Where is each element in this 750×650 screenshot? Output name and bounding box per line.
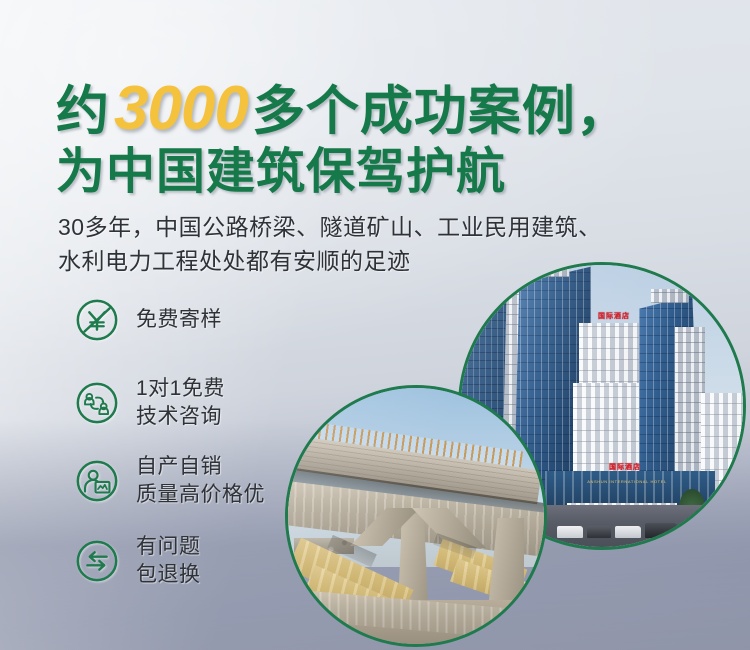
photo-bridge [285,385,547,647]
feature-label-self-production: 自产自销 质量高价格优 [136,453,265,509]
subtitle-line-1: 30多年，中国公路桥梁、隧道矿山、工业民用建筑、 [58,210,718,244]
headline-number: 3000 [110,74,252,143]
tower-left-cap [527,265,569,277]
headline: 约3000多个成功案例， 为中国建筑保驾护航 [56,78,716,204]
photo-bridge-scene [288,388,544,644]
promo-banner: 约3000多个成功案例， 为中国建筑保驾护航 30多年，中国公路桥梁、隧道矿山、… [0,0,750,650]
return-exchange-icon [74,538,120,584]
self-production-icon [74,458,120,504]
feature-label-free-sample: 免费寄样 [136,306,222,334]
headline-suffix: 多个成功案例， [252,82,630,141]
tower-right-cap [651,289,689,303]
headline-line-2: 为中国建筑保驾护航 [56,148,716,204]
free-yuan-icon [74,297,120,343]
car-dark-1 [587,526,611,538]
car-suv-dark [645,523,677,538]
feature-item-free-sample[interactable]: 免费寄样 [74,296,324,344]
feature-label-consulting: 1对1免费 技术咨询 [136,375,225,431]
feature-item-self-production[interactable]: 自产自销 质量高价格优 [74,452,324,510]
one-on-one-consult-icon [74,380,120,426]
podium-red-sign: 国际酒店 [573,461,677,473]
rooftop-sign: 国际酒店 [583,309,645,322]
headline-prefix: 约 [56,82,110,141]
feature-item-consulting[interactable]: 1对1免费 技术咨询 [74,374,324,432]
feature-label-return-exchange: 有问题 包退换 [136,533,201,589]
car-white-1 [557,526,583,538]
feature-item-return-exchange[interactable]: 有问题 包退换 [74,532,324,590]
car-dark-2 [683,527,705,538]
podium-gold-sign: ANSHUN INTERNATIONAL HOTEL [573,479,681,484]
headline-line-1: 约3000多个成功案例， [56,78,716,138]
feature-list: 免费寄样 1对1免费 技术咨询 [74,296,324,590]
car-white-2 [615,526,641,538]
